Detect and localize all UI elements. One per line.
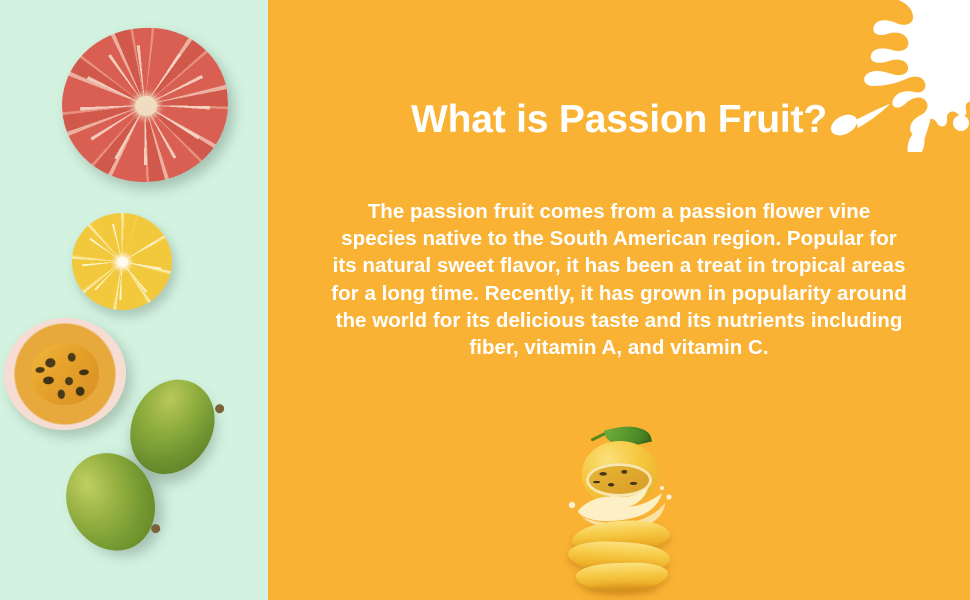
page-title: What is Passion Fruit? xyxy=(268,99,970,142)
fruit-stem-icon xyxy=(214,403,226,415)
fruit-stem-icon xyxy=(150,523,162,535)
lemon-slice-image xyxy=(69,210,176,314)
passion-fruit-half-image xyxy=(0,313,131,435)
fruit-stack-shadow xyxy=(586,585,658,594)
body-paragraph: The passion fruit comes from a passion f… xyxy=(328,198,910,361)
grapefruit-slice-image xyxy=(58,24,232,186)
fruit-stack-image xyxy=(560,425,680,580)
left-image-panel xyxy=(0,0,268,600)
right-content-panel: What is Passion Fruit? The passion fruit… xyxy=(268,0,970,600)
poster-canvas: What is Passion Fruit? The passion fruit… xyxy=(0,0,970,600)
